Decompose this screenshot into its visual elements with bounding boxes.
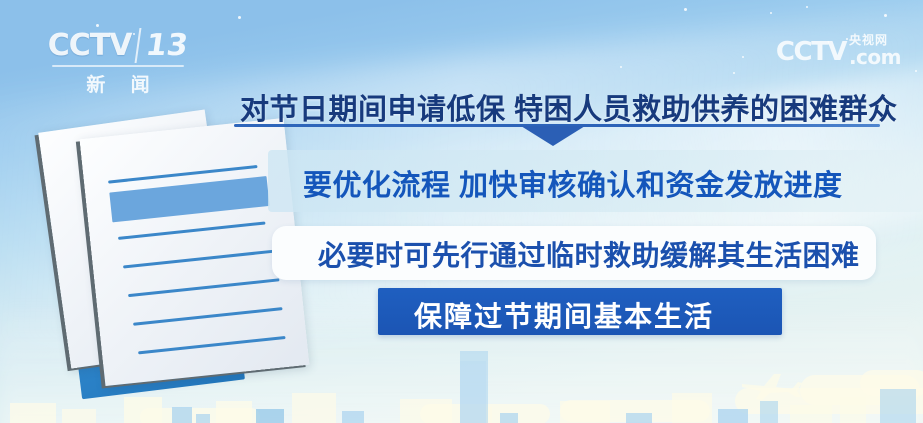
channel-logo-subtitle: 新 闻 [48,70,188,97]
document-rule-line [123,250,274,269]
star-dot [96,24,99,27]
cctv-com-logo: CCTV 央视网 .com [776,34,901,67]
skyline-building [216,401,252,423]
star-dot [806,6,808,8]
skyline-building [196,414,210,423]
document-highlight-bar [109,176,269,222]
skyline-building [760,401,778,423]
star-dot [684,8,687,11]
skyline-building [400,399,452,423]
skyline-building [342,411,364,423]
headline-line-3: 必要时可先行通过临时救助缓解其生活困难 [318,234,860,274]
channel-logo-rule [52,65,184,67]
channel-logo-row: CCTV 13 [48,28,188,63]
document-rule-line [138,336,286,354]
skyline-building [292,393,336,423]
star-dot [238,16,241,19]
headline-line-2: 要优化流程 加快审核确认和资金发放进度 [303,162,843,204]
cloud-shape [560,400,710,422]
site-logo-cn-label: 央视网 [849,34,888,46]
skyline-building [672,393,712,423]
skyline-building [62,409,96,423]
star-dot [884,14,887,17]
star-dot [133,33,135,35]
channel-logo-mark: CCTV [48,28,132,63]
skyline-building [460,361,486,423]
document-rule-line [128,278,279,297]
skyline-building [172,407,192,423]
headline-caret-icon [521,126,585,146]
document-rule-line [133,307,282,326]
site-logo-right: 央视网 .com [849,34,901,67]
headline-line-1: 对节日期间申请低保 特困人员救助供养的困难群众 [240,86,898,128]
news-graphic-canvas: CCTV 13 新 闻 CCTV 央视网 .com 对节日期间申请低保 特困人员… [0,0,923,423]
star-dot [733,72,735,74]
headline-line-4: 保障过节期间基本生活 [414,295,714,335]
site-logo-com-label: .com [849,47,901,67]
skyline-building [718,409,748,423]
cloud-shape [800,375,920,405]
skyline-building [10,403,56,423]
cctv13-channel-logo: CCTV 13 新 闻 [48,28,188,97]
cloud-shape [140,408,260,423]
airplane-icon [740,370,804,402]
star-dot [915,70,917,72]
star-dot [620,66,622,68]
skyline-building [880,389,916,423]
skyline-building [626,413,652,423]
skyline-building [840,397,866,423]
skyline-building [500,413,518,423]
channel-logo-number: 13 [135,28,191,63]
cloud-shape [860,370,923,396]
star-dot [846,38,848,40]
site-logo-mark: CCTV [776,37,846,67]
skyline-building [560,401,610,423]
skyline-building [790,405,832,423]
document-rule-line [118,221,266,239]
skyline-building [256,409,284,423]
cloud-shape [735,388,923,414]
star-dot [770,12,772,14]
star-dot [742,56,744,58]
skyline-building [124,397,162,423]
